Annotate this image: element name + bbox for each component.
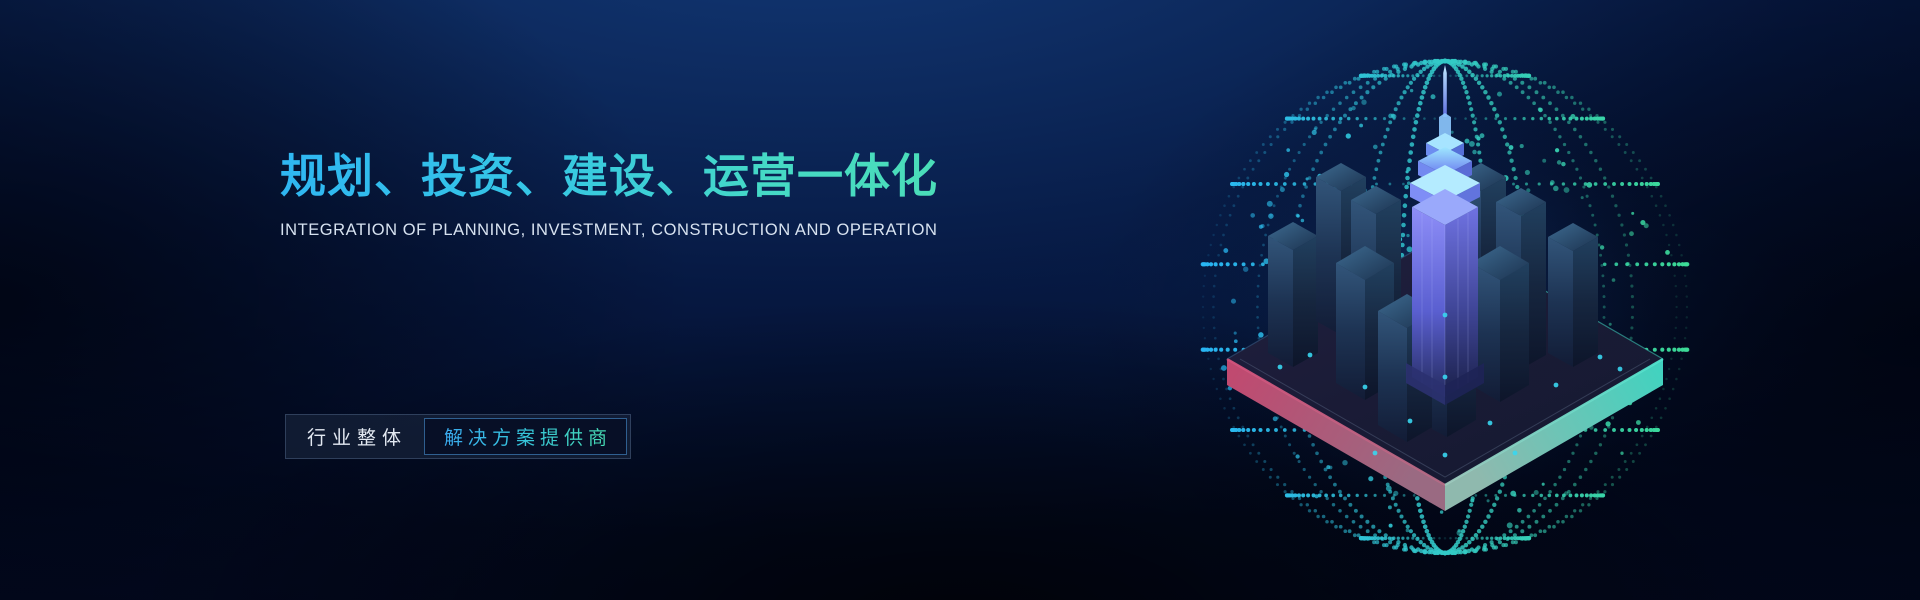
hero-headline: 规划、投资、建设、运营一体化 <box>280 150 1060 203</box>
tagline-badge-right-label: 解决方案提供商 <box>441 423 612 450</box>
tagline-badge-right: 解决方案提供商 <box>424 418 627 455</box>
hero-subheadline: INTEGRATION OF PLANNING, INVESTMENT, CON… <box>280 221 1060 240</box>
hero-illustration <box>1160 25 1730 585</box>
hero-banner: 规划、投资、建设、运营一体化 INTEGRATION OF PLANNING, … <box>0 0 1920 600</box>
tagline-badge: 行业整体 解决方案提供商 <box>285 414 631 459</box>
tagline-badge-left: 行业整体 <box>286 415 424 458</box>
hero-copy: 规划、投资、建设、运营一体化 INTEGRATION OF PLANNING, … <box>280 150 1060 240</box>
